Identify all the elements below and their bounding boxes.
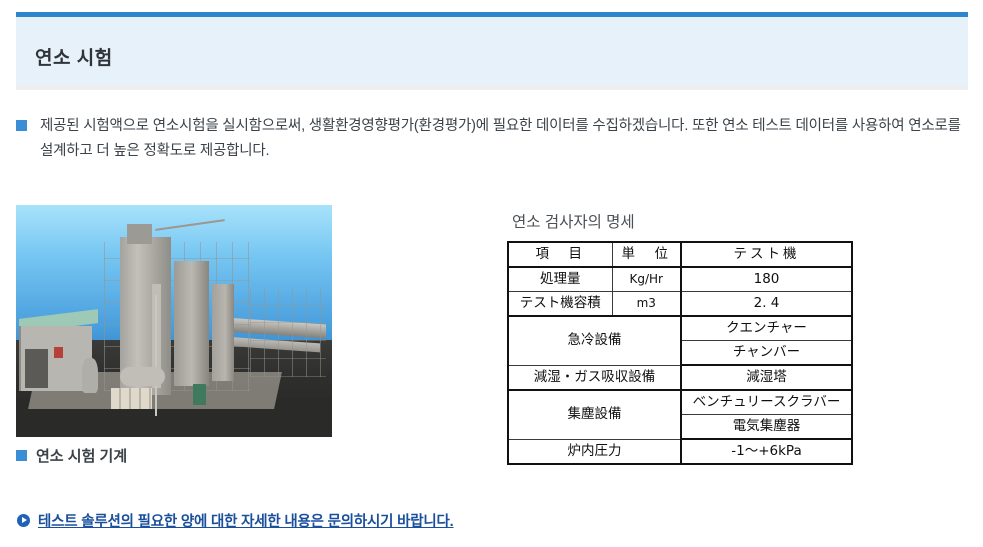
photo-tank (82, 358, 98, 393)
row-value: チャンバー (681, 341, 852, 366)
row-value: 電気集塵器 (681, 415, 852, 440)
row-item: 炉内圧力 (508, 439, 681, 464)
table-row: テスト機容積 m3 2. 4 (508, 292, 852, 317)
spec-table: 項 目 単 位 テスト機 処理量 Kg/Hr 180 テスト機容積 m3 2. … (507, 241, 853, 465)
photo-green-cabinet (193, 384, 206, 405)
row-value: 2. 4 (681, 292, 852, 317)
photo-third-tower (212, 284, 234, 381)
table-row: 炉内圧力 -1〜+6kPa (508, 439, 852, 464)
photo-vessel (120, 367, 164, 386)
row-unit: Kg/Hr (612, 267, 681, 292)
row-item: 処理量 (508, 267, 612, 292)
photo-pole (155, 295, 157, 416)
square-bullet-icon (16, 120, 27, 131)
spec-table-title: 연소 검사자의 명세 (512, 210, 635, 232)
photo-secondary-tower (174, 261, 209, 386)
photo-sky (16, 205, 332, 437)
page-header-panel: 연소 시험 (16, 12, 968, 86)
inquiry-link-label[interactable]: 테스트 솔루션의 필요한 양에 대한 자세한 내용은 문의하시기 바랍니다. (38, 510, 454, 531)
intro-text: 제공된 시험액으로 연소시험을 실시함으로써, 생활환경영향평가(환경평가)에 … (40, 114, 968, 164)
photo-caption-label: 연소 시험 기계 (36, 445, 127, 466)
photo-red-marker (54, 347, 63, 359)
table-row: 処理量 Kg/Hr 180 (508, 267, 852, 292)
column-header-value: テスト機 (681, 242, 852, 267)
page-title: 연소 시험 (35, 43, 113, 70)
page-root: 연소 시험 제공된 시험액으로 연소시험을 실시함으로써, 생활환경영향평가(환… (0, 0, 983, 547)
row-item: テスト機容積 (508, 292, 612, 317)
row-value: -1〜+6kPa (681, 439, 852, 464)
inquiry-link[interactable]: 테스트 솔루션의 필요한 양에 대한 자세한 내용은 문의하시기 바랍니다. (17, 510, 454, 531)
table-row: 急冷設備 クエンチャー (508, 316, 852, 341)
row-value: ベンチュリースクラバー (681, 390, 852, 415)
row-item: 集塵設備 (508, 390, 681, 439)
row-item: 減湿・ガス吸収設備 (508, 365, 681, 390)
row-item: 急冷設備 (508, 316, 681, 365)
photo-scaffold-frame-right (250, 289, 326, 377)
combustion-test-plant-photo (16, 205, 332, 437)
photo-antenna (155, 219, 224, 231)
table-header-row: 項 目 単 位 テスト機 (508, 242, 852, 267)
table-row: 減湿・ガス吸収設備 減湿塔 (508, 365, 852, 390)
row-value: 減湿塔 (681, 365, 852, 390)
square-bullet-icon (16, 450, 27, 461)
photo-building-door (25, 349, 47, 388)
row-value: 180 (681, 267, 852, 292)
play-circle-icon (17, 514, 30, 527)
photo-caption: 연소 시험 기계 (16, 445, 127, 466)
photo-drums (111, 388, 152, 409)
intro-paragraph: 제공된 시험액으로 연소시험을 실시함으로써, 생활환경영향평가(환경평가)에 … (16, 114, 968, 164)
column-header-unit: 単 位 (612, 242, 681, 267)
row-value: クエンチャー (681, 316, 852, 341)
table-row: 集塵設備 ベンチュリースクラバー (508, 390, 852, 415)
row-unit: m3 (612, 292, 681, 317)
photo-tower-top (127, 224, 152, 245)
column-header-item: 項 目 (508, 242, 612, 267)
